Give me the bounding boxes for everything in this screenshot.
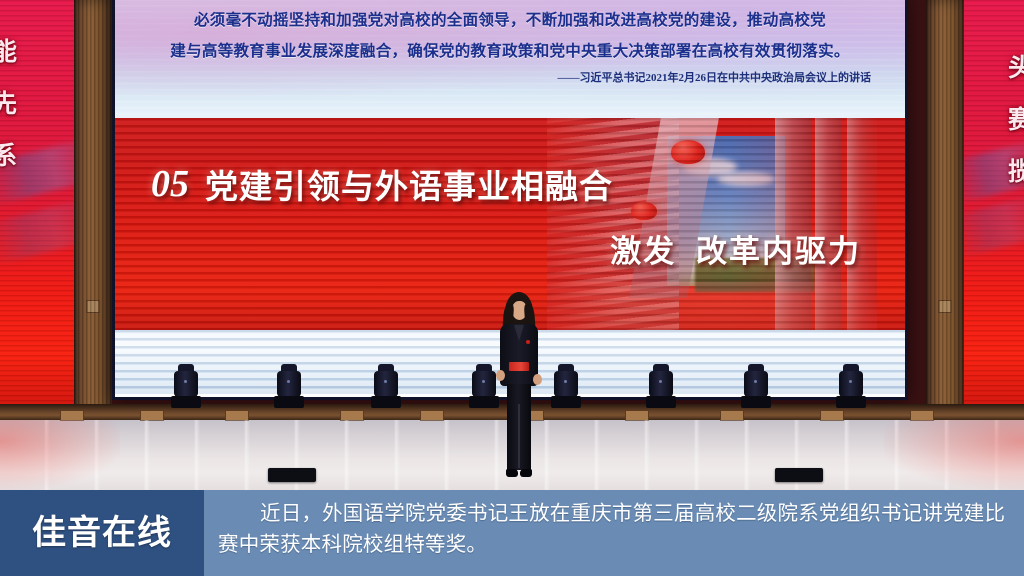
presenter-shoe-right bbox=[520, 469, 532, 477]
light-lens bbox=[184, 380, 187, 383]
presenter-badge bbox=[526, 340, 530, 344]
stage-light bbox=[277, 364, 301, 408]
light-lens bbox=[482, 380, 485, 383]
stage-light bbox=[839, 364, 863, 408]
light-body bbox=[472, 371, 496, 397]
screenshot-root: 能 先 系 头 赛 揽 必须毫不动摇坚持和加强党 bbox=[0, 0, 1024, 576]
light-body bbox=[374, 371, 398, 397]
caption-text: 近日，外国语学院党委书记王放在重庆市第三届高校二级院系党组织书记讲党建比赛中荣获… bbox=[218, 498, 1010, 560]
section-number: 05 bbox=[151, 162, 189, 206]
right-banner-text: 头 赛 揽 bbox=[1008, 42, 1024, 198]
light-lens bbox=[659, 380, 662, 383]
light-base bbox=[551, 396, 581, 408]
slide-subheading-row: 激发 改革内驱力 bbox=[610, 226, 861, 271]
light-body bbox=[554, 371, 578, 397]
light-body bbox=[649, 371, 673, 397]
auditorium-scene: 能 先 系 头 赛 揽 必须毫不动摇坚持和加强党 bbox=[0, 0, 1024, 490]
presenter-hand-left bbox=[496, 370, 505, 381]
stage-light bbox=[374, 364, 398, 408]
light-body bbox=[277, 371, 301, 397]
channel-logo-box: 佳音在线 bbox=[0, 490, 204, 576]
wall-socket-icon bbox=[87, 300, 100, 313]
left-wood-pillar bbox=[74, 0, 112, 420]
light-lens bbox=[564, 380, 567, 383]
stage-light bbox=[554, 364, 578, 408]
presenter-figure bbox=[497, 292, 541, 480]
stage-light bbox=[649, 364, 673, 408]
left-banner-char-2: 先 bbox=[0, 78, 17, 130]
slide-heading-row: 05 党建引领与外语事业相融合 bbox=[151, 160, 613, 208]
right-banner-char-2: 赛 bbox=[1008, 94, 1024, 146]
stage-light bbox=[174, 364, 198, 408]
left-banner-char-1: 能 bbox=[0, 26, 17, 78]
channel-logo-label: 佳音在线 bbox=[32, 516, 172, 550]
left-banner-char-3: 系 bbox=[0, 130, 17, 182]
floor-red-glow bbox=[0, 420, 120, 490]
light-base bbox=[741, 396, 771, 408]
light-lens bbox=[849, 380, 852, 383]
subtitle-lead: 激发 bbox=[610, 234, 676, 269]
light-base bbox=[274, 396, 304, 408]
presenter-hand-right bbox=[533, 374, 542, 385]
floor-monitor-speaker bbox=[775, 468, 823, 482]
light-base bbox=[646, 396, 676, 408]
floor-monitor-speaker bbox=[268, 468, 316, 482]
light-base bbox=[171, 396, 201, 408]
lower-third-bar: 佳音在线 近日，外国语学院党委书记王放在重庆市第三届高校二级院系党组织书记讲党建… bbox=[0, 490, 1024, 576]
subtitle-main: 改革内驱力 bbox=[696, 234, 861, 269]
floor-red-glow bbox=[884, 420, 1024, 490]
left-banner-text: 能 先 系 bbox=[0, 26, 17, 182]
presenter-leg-split bbox=[518, 404, 520, 468]
light-base bbox=[836, 396, 866, 408]
stage-light bbox=[472, 364, 496, 408]
quote-source: ——习近平总书记2021年2月26日在中共中央政治局会议上的讲话 bbox=[135, 71, 885, 85]
presenter-shoe-left bbox=[506, 469, 518, 477]
slide-quote-block: 必须毫不动摇坚持和加强党对高校的全面领导，不断加强和改进高校党的建设，推动高校党… bbox=[115, 0, 905, 85]
light-body bbox=[744, 371, 768, 397]
stage-light bbox=[744, 364, 768, 408]
wall-socket-icon bbox=[939, 300, 952, 313]
section-title: 党建引领与外语事业相融合 bbox=[205, 160, 613, 208]
light-lens bbox=[754, 380, 757, 383]
light-base bbox=[469, 396, 499, 408]
light-lens bbox=[287, 380, 290, 383]
light-body bbox=[174, 371, 198, 397]
caption-panel: 近日，外国语学院党委书记王放在重庆市第三届高校二级院系党组织书记讲党建比赛中荣获… bbox=[204, 490, 1024, 576]
light-lens bbox=[384, 380, 387, 383]
slide-quote-zone: 必须毫不动摇坚持和加强党对高校的全面领导，不断加强和改进高校党的建设，推动高校党… bbox=[115, 0, 905, 118]
quote-line-2: 建与高等教育事业发展深度融合，确保党的教育政策和党中央重大决策部署在高校有效贯彻… bbox=[135, 36, 885, 67]
right-banner-char-3: 揽 bbox=[1008, 146, 1024, 198]
right-wood-pillar bbox=[926, 0, 964, 420]
right-banner-char-1: 头 bbox=[1008, 42, 1024, 94]
light-body bbox=[839, 371, 863, 397]
presenter-red-card bbox=[509, 362, 529, 371]
quote-line-1: 必须毫不动摇坚持和加强党对高校的全面领导，不断加强和改进高校党的建设，推动高校党 bbox=[135, 5, 885, 36]
light-base bbox=[371, 396, 401, 408]
